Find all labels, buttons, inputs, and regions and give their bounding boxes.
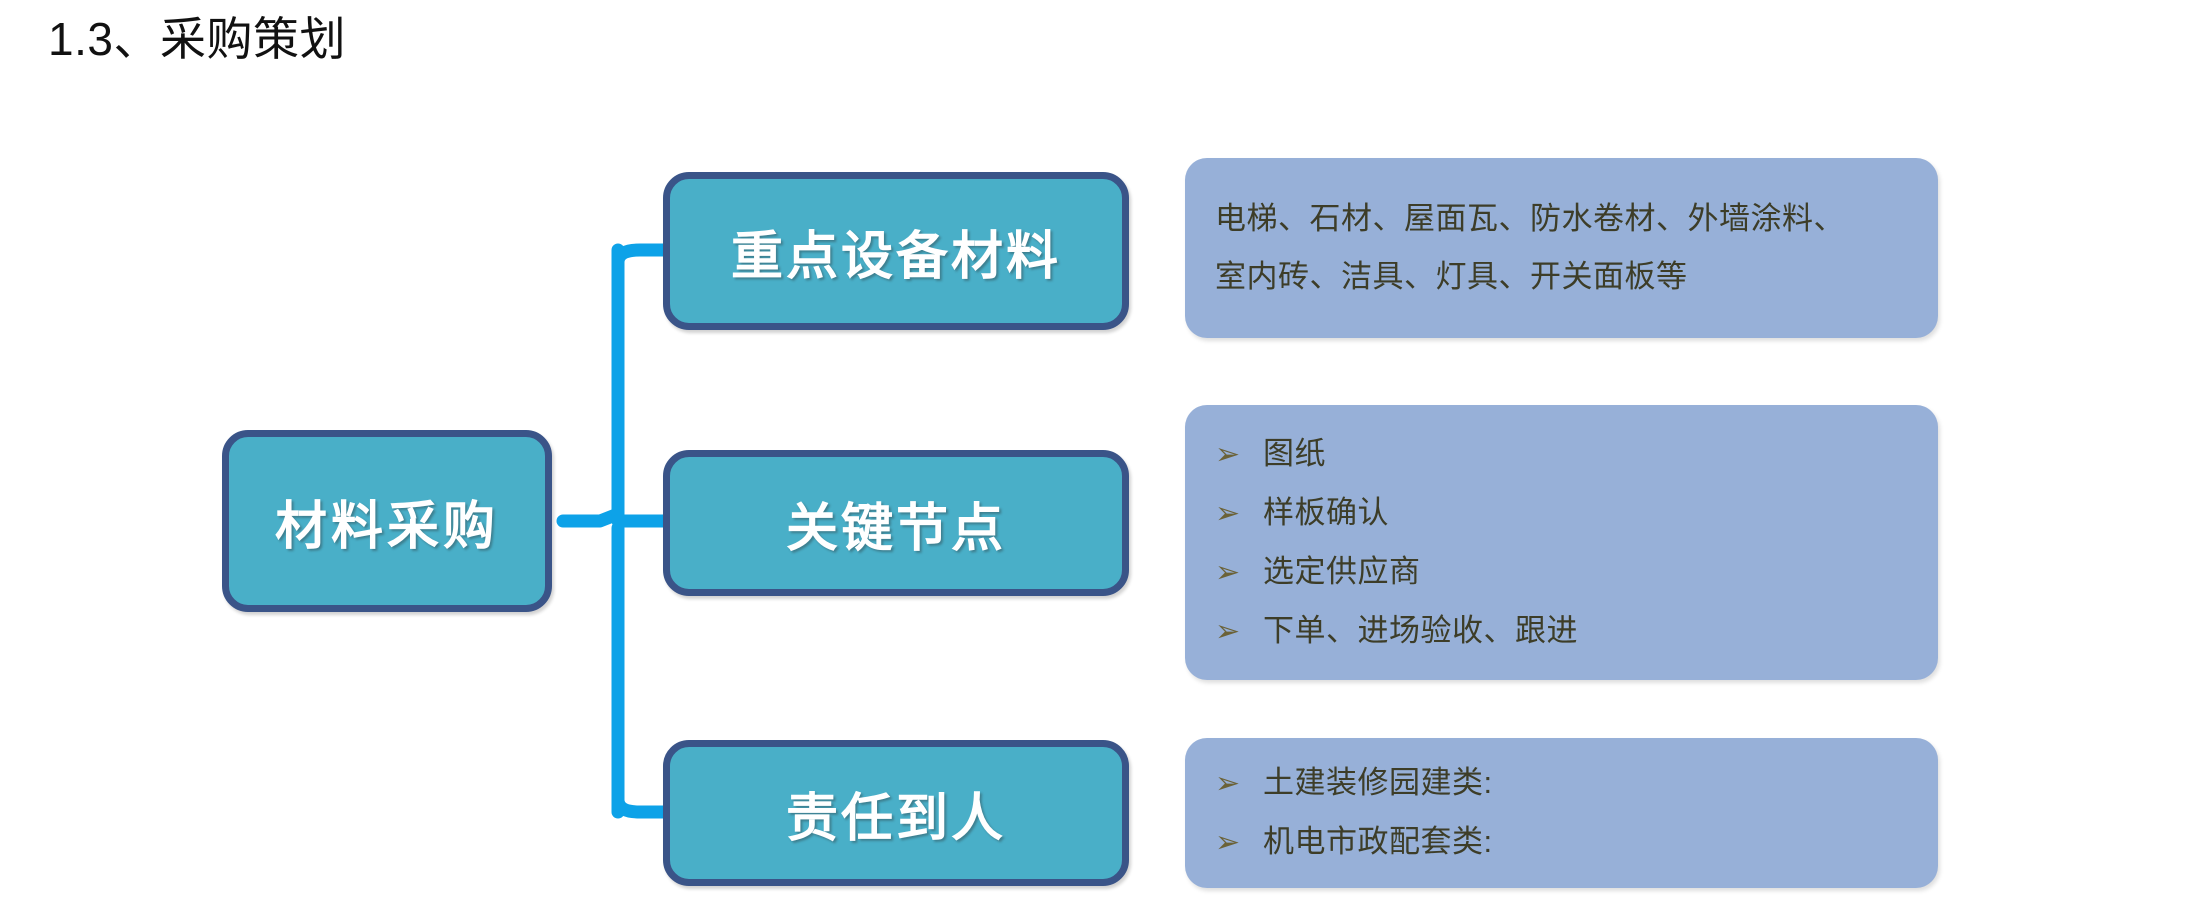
connector-arm-1 [618, 250, 665, 262]
panel-branch-2: ➢ 图纸 ➢ 样板确认 ➢ 选定供应商 ➢ 下单、进场验收、跟进 [1185, 405, 1938, 680]
panel-1-line-1: 电梯、石材、屋面瓦、防水卷材、外墙涂料、 [1215, 190, 1908, 248]
arrow-bullet-icon: ➢ [1207, 755, 1263, 813]
arrow-bullet-icon: ➢ [1207, 544, 1263, 602]
arrow-bullet-icon: ➢ [1207, 603, 1263, 661]
node-branch-3-label: 责任到人 [786, 776, 1006, 851]
connector-root-stub [563, 514, 618, 521]
list-item-label: 图纸 [1263, 425, 1326, 483]
node-branch-1[interactable]: 重点设备材料 [663, 172, 1129, 330]
arrow-bullet-icon: ➢ [1207, 814, 1263, 872]
list-item-label: 样板确认 [1263, 484, 1389, 542]
arrow-bullet-icon: ➢ [1207, 426, 1263, 484]
node-branch-3[interactable]: 责任到人 [663, 740, 1129, 886]
list-item: ➢ 样板确认 [1207, 484, 1916, 543]
list-item-label: 土建装修园建类: [1263, 754, 1493, 812]
arrow-bullet-icon: ➢ [1207, 485, 1263, 543]
node-branch-2-label: 关键节点 [786, 486, 1006, 561]
node-root-label: 材料采购 [275, 484, 499, 559]
panel-1-line-2: 室内砖、洁具、灯具、开关面板等 [1215, 248, 1908, 306]
connector-arm-3 [618, 800, 665, 812]
list-item-label: 机电市政配套类: [1263, 813, 1493, 871]
slide-canvas: 1.3、采购策划 材料采购 重点设备材料 关键节点 责任到人 电梯、石材 [0, 0, 2200, 910]
list-item: ➢ 图纸 [1207, 425, 1916, 484]
list-item-label: 选定供应商 [1263, 543, 1421, 601]
list-item-label: 下单、进场验收、跟进 [1263, 602, 1578, 660]
list-item: ➢ 土建装修园建类: [1207, 754, 1916, 813]
list-item: ➢ 下单、进场验收、跟进 [1207, 602, 1916, 661]
node-branch-2[interactable]: 关键节点 [663, 450, 1129, 596]
node-root[interactable]: 材料采购 [222, 430, 552, 612]
list-item: ➢ 选定供应商 [1207, 543, 1916, 602]
list-item: ➢ 机电市政配套类: [1207, 813, 1916, 872]
panel-branch-3: ➢ 土建装修园建类: ➢ 机电市政配套类: [1185, 738, 1938, 888]
panel-branch-1: 电梯、石材、屋面瓦、防水卷材、外墙涂料、 室内砖、洁具、灯具、开关面板等 [1185, 158, 1938, 338]
node-branch-1-label: 重点设备材料 [731, 214, 1061, 289]
page-title: 1.3、采购策划 [48, 8, 346, 70]
